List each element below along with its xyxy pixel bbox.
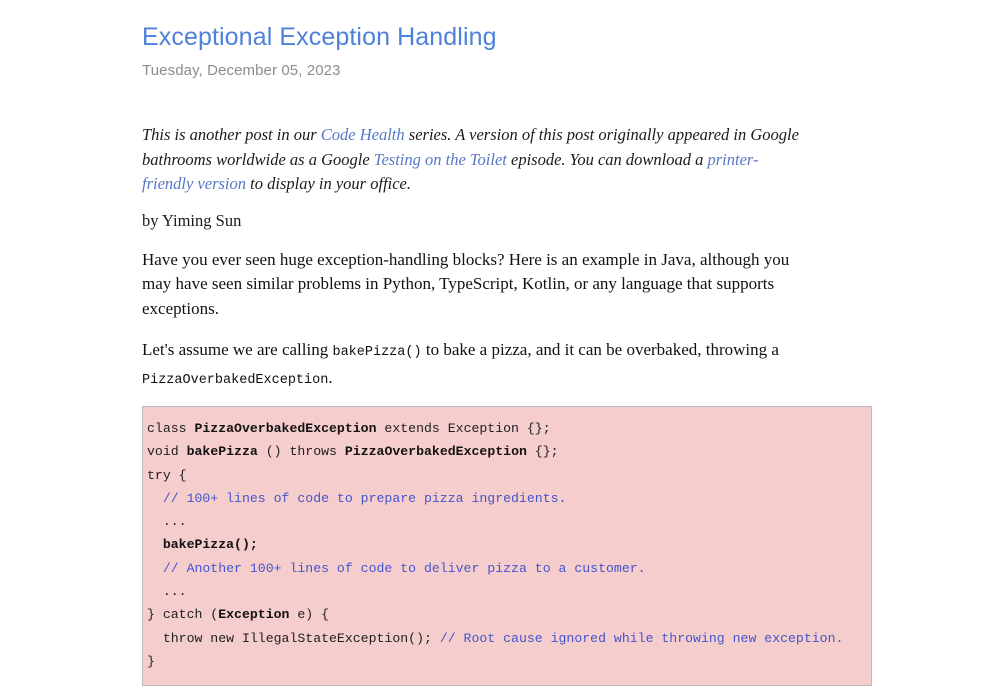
link-code-health[interactable]: Code Health (321, 125, 405, 144)
post-byline: by Yiming Sun (142, 197, 882, 233)
code-line: class PizzaOverbakedException extends Ex… (143, 417, 871, 440)
code-text: () throws (258, 444, 345, 459)
code-text: try { (147, 468, 187, 483)
blog-post-page: Exceptional Exception Handling Tuesday, … (0, 0, 1000, 663)
code-line: throw new IllegalStateException(); // Ro… (143, 627, 871, 650)
code-text: extends Exception {}; (377, 421, 551, 436)
intro-paragraph: This is another post in our Code Health … (142, 81, 802, 197)
code-line: } (143, 650, 871, 673)
code-text: ... (147, 584, 187, 599)
code-line: bakePizza(); (143, 533, 871, 556)
code-line: try { (143, 464, 871, 487)
code-identifier: bakePizza(); (163, 537, 258, 552)
code-text: e) { (289, 607, 329, 622)
code-line: // 100+ lines of code to prepare pizza i… (143, 487, 871, 510)
code-line: ... (143, 510, 871, 533)
code-text: throw new IllegalStateException(); (147, 631, 440, 646)
code-identifier: Exception (218, 607, 289, 622)
inline-code-pizzaoverbakedexception: PizzaOverbakedException (142, 373, 328, 388)
code-text (147, 537, 163, 552)
code-text: {}; (527, 444, 559, 459)
body-paragraph-1: Have you ever seen huge exception-handli… (142, 233, 814, 322)
code-identifier: PizzaOverbakedException (194, 421, 376, 436)
code-text: ... (147, 514, 187, 529)
body-text-1: Let's assume we are calling (142, 340, 332, 359)
code-line: } catch (Exception e) { (143, 603, 871, 626)
code-comment: // Another 100+ lines of code to deliver… (147, 561, 646, 576)
code-line: ... (143, 580, 871, 603)
intro-text-3: episode. You can download a (507, 150, 708, 169)
code-line: // Another 100+ lines of code to deliver… (143, 557, 871, 580)
body-text-2: to bake a pizza, and it can be overbaked… (422, 340, 779, 359)
link-testing-on-the-toilet[interactable]: Testing on the Toilet (374, 150, 507, 169)
code-comment: // 100+ lines of code to prepare pizza i… (147, 491, 566, 506)
inline-code-bakepizza: bakePizza() (332, 345, 421, 360)
code-identifier: bakePizza (187, 444, 258, 459)
code-text: void (147, 444, 187, 459)
intro-text-4: to display in your office. (246, 174, 411, 193)
code-block-java-example: class PizzaOverbakedException extends Ex… (142, 406, 872, 686)
code-text: } catch ( (147, 607, 218, 622)
code-line: void bakePizza () throws PizzaOverbakedE… (143, 440, 871, 463)
code-text: } (147, 654, 155, 669)
intro-text-1: This is another post in our (142, 125, 321, 144)
code-comment: // Root cause ignored while throwing new… (440, 631, 844, 646)
code-identifier: PizzaOverbakedException (345, 444, 527, 459)
post-content-column: Exceptional Exception Handling Tuesday, … (142, 0, 882, 686)
body-text-3: . (328, 368, 332, 387)
post-date: Tuesday, December 05, 2023 (142, 52, 882, 81)
page-title: Exceptional Exception Handling (142, 0, 882, 52)
code-text: class (147, 421, 194, 436)
body-paragraph-2: Let's assume we are calling bakePizza() … (142, 321, 814, 393)
